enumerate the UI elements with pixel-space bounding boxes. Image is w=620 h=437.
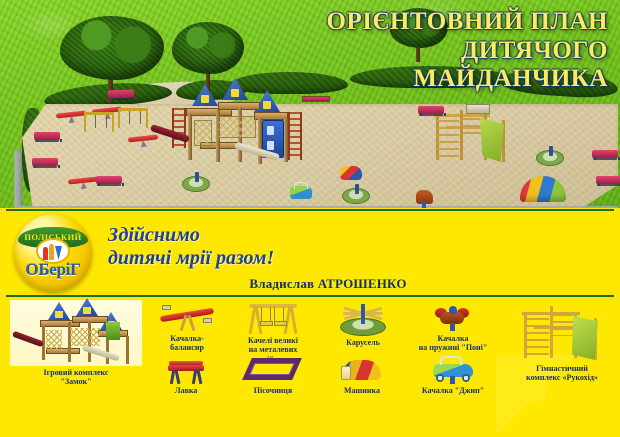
legend-label: Машинка [322,386,402,395]
legend-label: Гімнастичний комплекс «Рукохід» [506,364,618,383]
legend-item-seesaw[interactable]: Качалка- балансир [152,304,222,353]
side-walkway [14,149,22,208]
legend-item-car[interactable]: Машинка [322,354,402,395]
scene-toy-car [340,166,362,180]
slogan-line-1: Здійснимо [108,224,438,247]
seesaw-balance-icon [160,304,214,332]
spring-rocker-pony-icon [433,304,473,332]
legend-panel: Ігровий комплекс "Замок" Качалка- баланс… [0,298,620,437]
legend-label: Пісочниця [224,386,322,395]
playground-render-scene: ОРІЄНТОВНИЙ ПЛАН ДИТЯЧОГО МАЙДАНЧИКА [0,0,620,208]
park-bench-icon [166,358,206,384]
legend-item-sandbox[interactable]: Пісочниця [224,354,322,395]
scene-bench [596,176,620,184]
tree-crown [60,16,164,80]
legend-item-castle[interactable]: Ігровий комплекс "Замок" [2,300,150,387]
legend-item-gym[interactable]: Гімнастичний комплекс «Рукохід» [506,300,618,383]
poster-title: ОРІЄНТОВНИЙ ПЛАН ДИТЯЧОГО МАЙДАНЧИКА [258,8,608,94]
toy-car-icon [339,354,385,384]
scene-carousel [536,150,564,166]
playground-plan-poster: ОРІЄНТОВНИЙ ПЛАН ДИТЯЧОГО МАЙДАНЧИКА ПОЛ… [0,0,620,437]
legend-label: Ігровий комплекс "Замок" [2,368,150,387]
scene-bench [32,158,58,166]
playground-castle-icon [10,300,142,366]
tree [60,16,164,98]
legend-label: Качалка на пружині "Поні" [402,334,504,353]
scene-swing [118,108,148,128]
scene-jeep-rocker [290,186,312,199]
author-name: Владислав АТРОШЕНКО [108,276,548,292]
legend-label: Качалка "Джип" [400,386,506,395]
scene-carousel [342,188,370,204]
tree-crown [172,22,244,74]
legend-item-jeep[interactable]: Качалка "Джип" [400,354,506,395]
gymnastic-climbing-frame-icon [516,300,608,362]
slogan-text: Здійснимо дитячі мрії разом! [108,224,438,269]
scene-bench [592,150,618,158]
spring-rocker-jeep-icon [429,354,477,384]
band-divider-bottom [6,295,614,297]
scene-pony-rocker [416,190,433,204]
legend-item-carousel[interactable]: Карусель [324,304,402,347]
family-figures-icon [38,240,68,262]
legend-label: Лавка [148,386,224,395]
brand-logo: ПОЛІСЬКИЙ ОБеріГ [14,214,92,292]
scene-carousel [182,176,210,192]
title-line-1: ОРІЄНТОВНИЙ ПЛАН [258,8,608,37]
scene-swing [84,112,114,132]
legend-label: Карусель [324,338,402,347]
sandbox-frame-icon [245,354,301,384]
legend-item-bench[interactable]: Лавка [148,358,224,395]
slogan-band: ПОЛІСЬКИЙ ОБеріГ Здійснимо дитячі мрії р… [0,208,620,298]
scene-table [466,104,490,114]
scene-bench [34,132,60,140]
legend-label: Качалка- балансир [152,334,222,353]
title-line-2: ДИТЯЧОГО [258,37,608,66]
double-swing-icon [247,300,299,334]
carousel-icon [340,304,386,336]
legend-item-pony[interactable]: Качалка на пружині "Поні" [402,304,504,353]
logo-wordmark: ОБеріГ [14,260,92,280]
slogan-line-2: дитячі мрії разом! [108,247,438,270]
band-divider-top [6,209,614,211]
scene-bench [108,90,134,99]
logo-disc [38,240,68,262]
title-line-3: МАЙДАНЧИКА [258,65,608,94]
scene-bench [418,106,444,114]
scene-bench [96,176,122,184]
